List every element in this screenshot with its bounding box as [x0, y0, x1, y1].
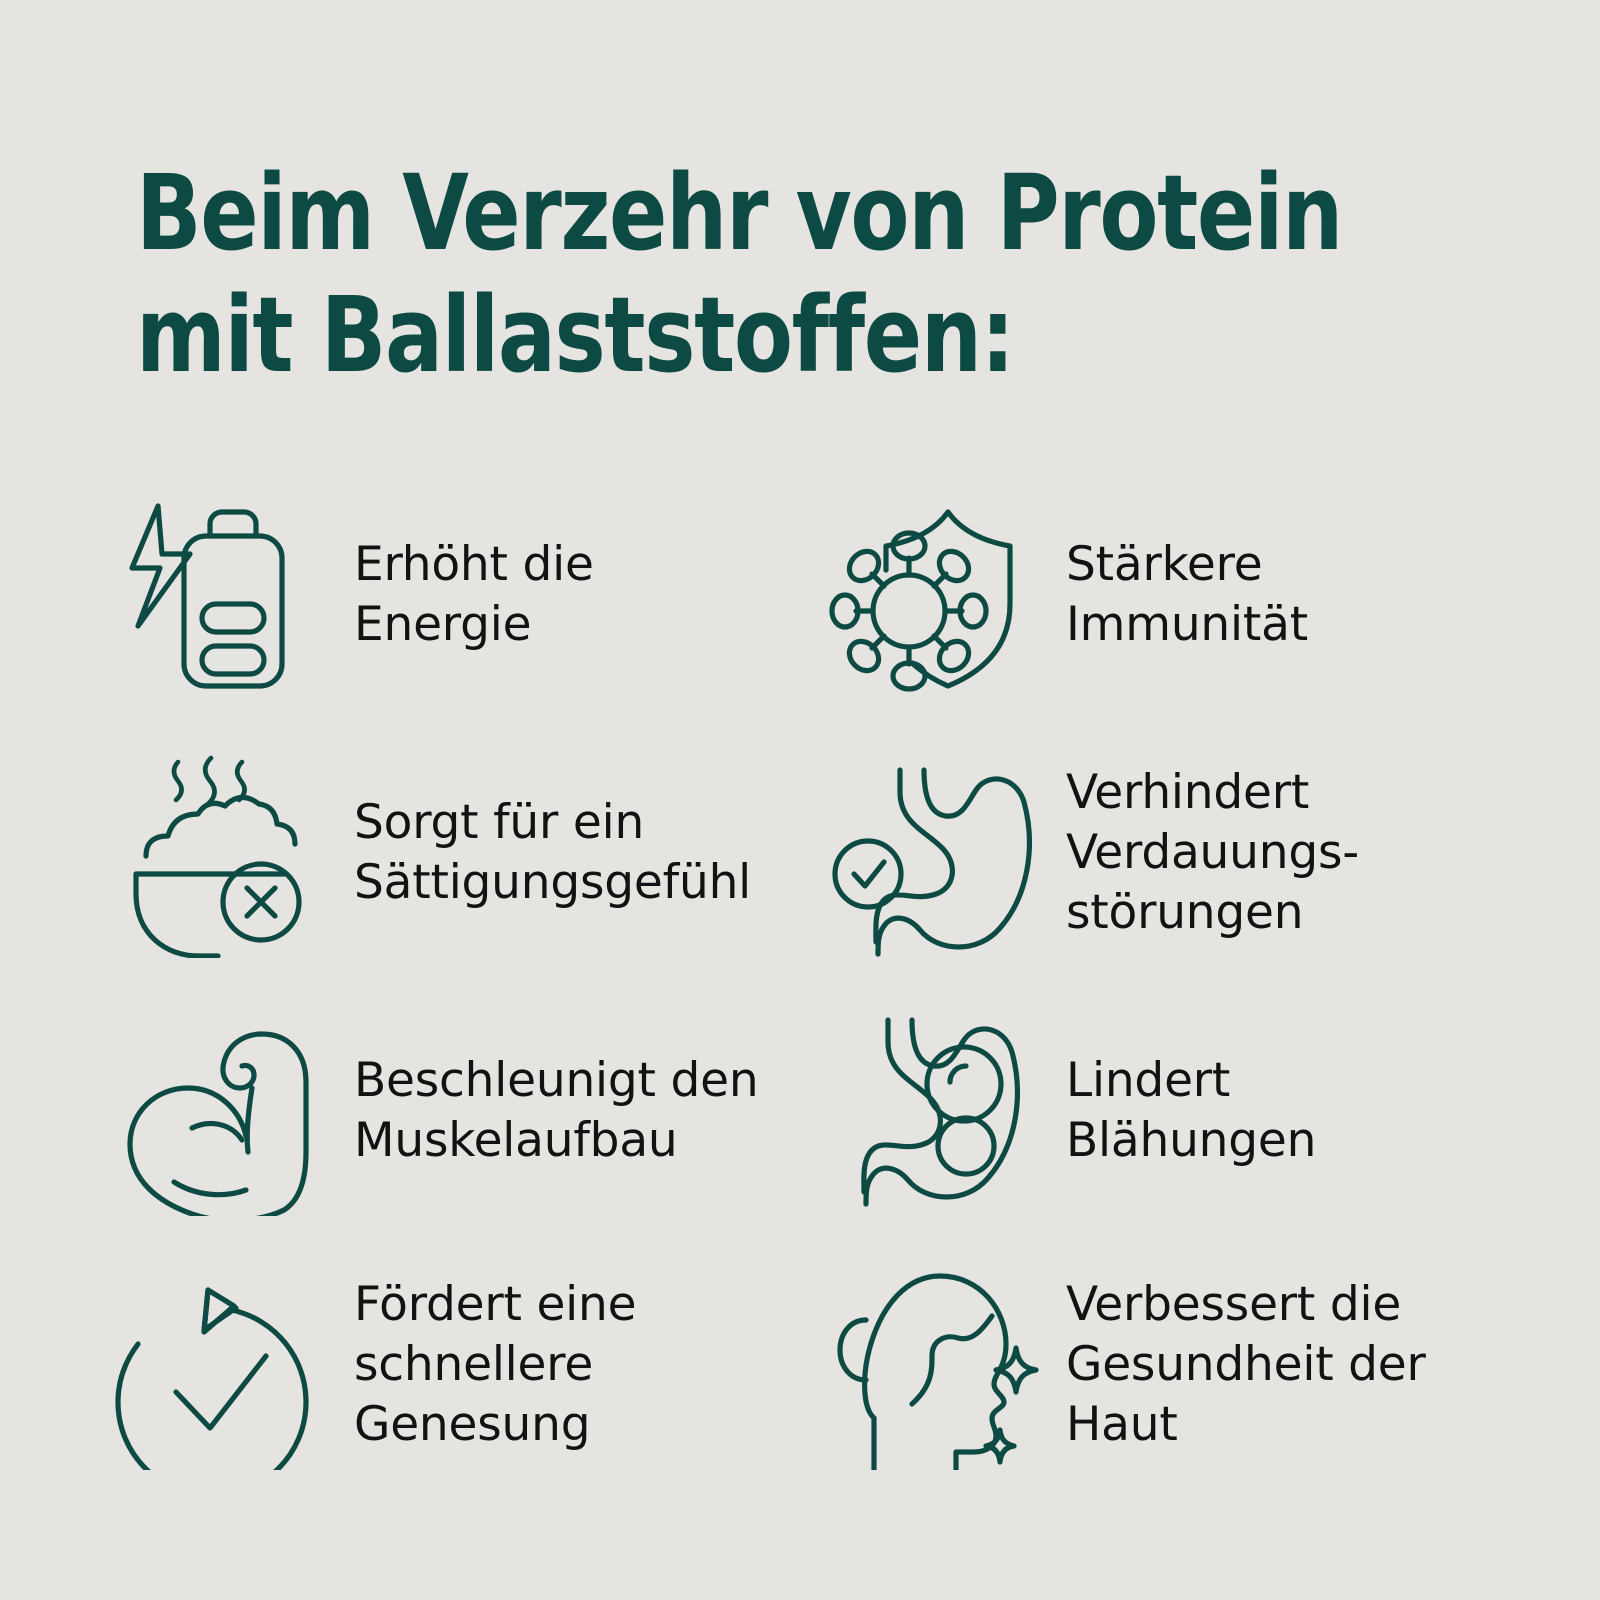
- benefit-item-muscle: Beschleunigt den Muskelaufbau: [112, 984, 824, 1238]
- benefit-item-satiety: Sorgt für ein Sättigungsgefühl: [112, 722, 824, 984]
- page-title: Beim Verzehr von Protein mit Ballaststof…: [136, 152, 1476, 396]
- page-title-line-1: Beim Verzehr von Protein: [136, 152, 1369, 274]
- benefit-item-digestion: Verhindert Verdauungs- störungen: [824, 722, 1512, 984]
- stomach-check-icon: [824, 748, 1040, 958]
- benefit-label: Sorgt für ein Sättigungsgefühl: [354, 793, 751, 913]
- refresh-check-icon: [112, 1260, 328, 1470]
- flexed-biceps-icon: [112, 1006, 328, 1216]
- benefit-item-recovery: Fördert eine schnellere Genesung: [112, 1238, 824, 1492]
- benefit-label: Stärkere Immunität: [1066, 535, 1308, 655]
- stomach-bubbles-icon: [824, 1006, 1040, 1216]
- page-title-line-2: mit Ballaststoffen:: [136, 274, 1369, 396]
- benefit-item-immunity: Stärkere Immunität: [824, 468, 1512, 722]
- benefit-label: Erhöht die Energie: [354, 535, 594, 655]
- infographic-poster: Beim Verzehr von Protein mit Ballaststof…: [0, 0, 1600, 1600]
- benefit-item-skin: Verbessert die Gesundheit der Haut: [824, 1238, 1512, 1492]
- benefit-label: Beschleunigt den Muskelaufbau: [354, 1051, 758, 1171]
- benefits-grid: Erhöht die Energie: [112, 468, 1512, 1492]
- head-sparkle-icon: [824, 1260, 1040, 1470]
- shield-virus-icon: [824, 490, 1040, 700]
- benefit-item-energy: Erhöht die Energie: [112, 468, 824, 722]
- battery-bolt-icon: [112, 490, 328, 700]
- benefit-label: Fördert eine schnellere Genesung: [354, 1275, 636, 1455]
- benefit-item-bloating: Lindert Blähungen: [824, 984, 1512, 1238]
- benefit-label: Verhindert Verdauungs- störungen: [1066, 763, 1359, 943]
- benefit-label: Verbessert die Gesundheit der Haut: [1066, 1275, 1426, 1455]
- bowl-steam-no-icon: [112, 748, 328, 958]
- benefit-label: Lindert Blähungen: [1066, 1051, 1316, 1171]
